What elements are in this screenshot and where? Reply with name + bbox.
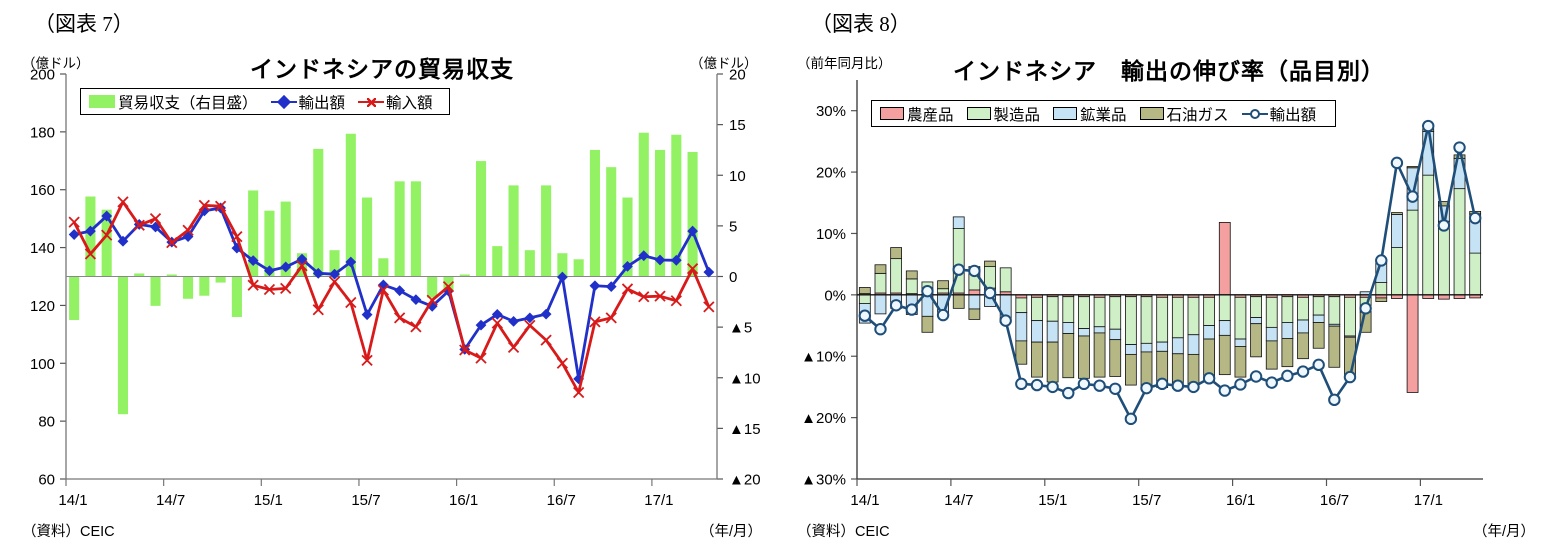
export-growth-bar-segment bbox=[1125, 354, 1136, 385]
figure-8-ytick: ▲30% bbox=[801, 472, 846, 489]
figure-7-y2tick: ▲20 bbox=[729, 472, 761, 489]
figure-7-source: （資料）CEIC bbox=[22, 520, 115, 541]
export-growth-bar-segment bbox=[1031, 297, 1042, 320]
export-growth-bar-segment bbox=[1047, 321, 1058, 342]
figure-7-ytick: 60 bbox=[38, 472, 55, 489]
total-exports-marker bbox=[860, 311, 870, 321]
export-growth-bar-segment bbox=[1266, 297, 1277, 327]
export-growth-bar-segment bbox=[1407, 210, 1418, 295]
total-exports-marker bbox=[907, 304, 917, 314]
export-growth-bar-segment bbox=[1219, 321, 1230, 336]
figure-7-xtick: 14/1 bbox=[58, 492, 87, 509]
export-growth-bar-segment bbox=[1282, 297, 1293, 323]
export-growth-bar-segment bbox=[1235, 297, 1246, 339]
imports-marker bbox=[622, 284, 632, 294]
trade-balance-bar bbox=[346, 134, 356, 277]
trade-balance-bar bbox=[150, 277, 160, 306]
figure-8-xtick: 15/1 bbox=[1038, 492, 1067, 509]
export-growth-bar-segment bbox=[1251, 324, 1262, 357]
figure-7-xtick: 16/1 bbox=[449, 492, 478, 509]
trade-balance-bar bbox=[492, 246, 502, 276]
export-growth-bar-segment bbox=[985, 261, 996, 267]
total-exports-marker bbox=[1470, 213, 1480, 223]
export-growth-bar-segment bbox=[891, 248, 902, 259]
export-growth-bar-segment bbox=[1407, 167, 1418, 168]
export-growth-bar-segment bbox=[1219, 222, 1230, 294]
export-growth-bar-segment bbox=[1251, 318, 1262, 324]
trade-balance-bar bbox=[427, 277, 437, 298]
total-exports-marker bbox=[922, 286, 932, 296]
export-growth-bar-segment bbox=[938, 281, 949, 289]
total-exports-marker bbox=[1000, 315, 1010, 325]
export-growth-bar-segment bbox=[985, 267, 996, 288]
trade-balance-bar bbox=[232, 277, 242, 318]
trade-balance-bar bbox=[313, 149, 323, 277]
export-growth-bar-segment bbox=[1188, 335, 1199, 355]
exports-marker bbox=[703, 267, 714, 278]
trade-balance-bar bbox=[509, 185, 519, 276]
export-growth-bar-segment bbox=[969, 290, 980, 295]
trade-balance-bar bbox=[476, 161, 486, 276]
figure-8-panel: （図表 8） （前年同月比） インドネシア 輸出の伸び率（品目別） 農産品 製造… bbox=[783, 0, 1567, 555]
export-growth-bar-segment bbox=[1298, 333, 1309, 359]
export-growth-bar-segment bbox=[1078, 297, 1089, 329]
export-growth-bar-segment bbox=[1047, 342, 1058, 382]
figure-8-xtick: 14/1 bbox=[850, 492, 879, 509]
imports-marker bbox=[476, 353, 486, 363]
figure-7-y2tick: 5 bbox=[729, 218, 737, 235]
total-exports-marker bbox=[1204, 373, 1214, 383]
export-growth-bar-segment bbox=[1141, 352, 1152, 386]
imports-marker bbox=[69, 217, 79, 227]
export-growth-bar-segment bbox=[1376, 283, 1387, 295]
export-growth-bar-segment bbox=[891, 259, 902, 293]
total-exports-marker bbox=[1376, 255, 1386, 265]
export-growth-bar-segment bbox=[1016, 341, 1027, 364]
figure-8-ytick: 20% bbox=[816, 165, 846, 182]
trade-balance-bar bbox=[574, 259, 584, 276]
total-exports-marker bbox=[1282, 371, 1292, 381]
figure-7-ytick: 180 bbox=[30, 124, 55, 141]
export-growth-bar-segment bbox=[1094, 333, 1105, 377]
trade-balance-bar bbox=[362, 198, 372, 277]
trade-balance-bar bbox=[541, 185, 551, 276]
export-growth-bar-segment bbox=[859, 295, 870, 304]
export-growth-bar-segment bbox=[953, 217, 964, 229]
figure-7-xtick: 17/1 bbox=[644, 492, 673, 509]
export-growth-bar-segment bbox=[1188, 297, 1199, 334]
export-growth-bar-segment bbox=[1063, 322, 1074, 333]
export-growth-bar-segment bbox=[1282, 338, 1293, 366]
export-growth-bar-segment bbox=[1016, 298, 1027, 313]
figure-8-xtick: 15/7 bbox=[1132, 492, 1161, 509]
export-growth-bar-segment bbox=[1219, 295, 1230, 321]
total-exports-marker bbox=[938, 310, 948, 320]
figure-7-y2tick: 15 bbox=[729, 117, 746, 134]
export-growth-bar-segment bbox=[1454, 189, 1465, 295]
export-growth-bar-segment bbox=[1407, 295, 1418, 393]
trade-balance-bar bbox=[69, 277, 79, 321]
figure-7-y2tick: ▲5 bbox=[729, 320, 752, 337]
figure-7-ytick: 80 bbox=[38, 414, 55, 431]
export-growth-bar-segment bbox=[906, 279, 917, 294]
export-growth-bar-segment bbox=[1204, 326, 1215, 340]
figure-8-ytick: 30% bbox=[816, 103, 846, 120]
figure-7-ytick: 200 bbox=[30, 67, 55, 84]
export-growth-bar-segment bbox=[1063, 297, 1074, 323]
trade-balance-bar bbox=[590, 150, 600, 277]
imports-marker bbox=[411, 322, 421, 332]
total-exports-marker bbox=[1360, 303, 1370, 313]
imports-marker bbox=[118, 197, 128, 207]
export-growth-bar-segment bbox=[1391, 248, 1402, 295]
export-growth-bar-segment bbox=[1266, 341, 1277, 369]
figure-8-ytick: 0% bbox=[824, 287, 846, 304]
export-growth-bar-segment bbox=[1219, 335, 1230, 374]
exports-marker bbox=[411, 294, 422, 305]
figure-7-y2tick: 10 bbox=[729, 168, 746, 185]
figure-7-y2tick: ▲10 bbox=[729, 370, 761, 387]
export-growth-bar-segment bbox=[1391, 213, 1402, 215]
export-growth-bar-segment bbox=[1266, 327, 1277, 341]
figure-7-ytick: 140 bbox=[30, 240, 55, 257]
total-exports-marker bbox=[1110, 384, 1120, 394]
export-growth-bar-segment bbox=[1376, 298, 1387, 302]
trade-balance-bar bbox=[525, 250, 535, 276]
total-exports-marker bbox=[1047, 382, 1057, 392]
exports-marker bbox=[378, 279, 389, 290]
page-root: （図表 7） （億ドル） （億ドル） インドネシアの貿易収支 貿易収支（右目盛）… bbox=[0, 0, 1567, 555]
total-exports-marker bbox=[1188, 382, 1198, 392]
figure-8-ytick: ▲20% bbox=[801, 410, 846, 427]
figure-7-xtick: 15/7 bbox=[351, 492, 380, 509]
figure-7-panel: （図表 7） （億ドル） （億ドル） インドネシアの貿易収支 貿易収支（右目盛）… bbox=[0, 0, 783, 555]
total-exports-marker bbox=[1439, 220, 1449, 230]
total-exports-marker bbox=[1423, 121, 1433, 131]
export-growth-bar-segment bbox=[1391, 214, 1402, 247]
export-growth-bar-segment bbox=[1110, 329, 1121, 339]
figure-7-y2tick: 20 bbox=[729, 67, 746, 84]
export-growth-bar-segment bbox=[1235, 346, 1246, 377]
export-growth-bar-segment bbox=[953, 295, 964, 309]
export-growth-bar-segment bbox=[922, 316, 933, 332]
total-exports-marker bbox=[969, 266, 979, 276]
trade-balance-bar bbox=[118, 277, 128, 415]
exports-marker bbox=[590, 280, 601, 291]
export-growth-bar-segment bbox=[969, 309, 980, 319]
total-exports-marker bbox=[1235, 379, 1245, 389]
figure-7-ytick: 160 bbox=[30, 182, 55, 199]
total-exports-marker bbox=[1079, 379, 1089, 389]
total-exports-marker bbox=[1454, 142, 1464, 152]
export-growth-bar-segment bbox=[1172, 297, 1183, 338]
figure-8-xtick: 16/7 bbox=[1320, 492, 1349, 509]
export-growth-bar-segment bbox=[1125, 297, 1136, 345]
trade-balance-bar bbox=[688, 152, 698, 277]
export-growth-bar-segment bbox=[1344, 297, 1355, 336]
export-growth-bar-segment bbox=[1251, 297, 1262, 318]
trade-balance-bar bbox=[606, 167, 616, 276]
export-growth-bar-segment bbox=[938, 289, 949, 293]
total-exports-marker bbox=[1313, 360, 1323, 370]
imports-marker bbox=[509, 342, 519, 352]
export-growth-bar-segment bbox=[1329, 297, 1340, 325]
total-exports-marker bbox=[875, 324, 885, 334]
export-growth-bar-segment bbox=[1470, 253, 1481, 295]
export-growth-bar-segment bbox=[1298, 320, 1309, 333]
figure-7-y2tick: ▲15 bbox=[729, 421, 761, 438]
trade-balance-bar bbox=[411, 181, 421, 276]
export-growth-bar-segment bbox=[1000, 268, 1011, 292]
trade-balance-bar bbox=[183, 277, 193, 299]
total-exports-marker bbox=[891, 300, 901, 310]
export-growth-bar-segment bbox=[1094, 297, 1105, 326]
exports-marker bbox=[541, 309, 552, 320]
export-growth-bar-segment bbox=[906, 271, 917, 279]
figure-8-xtick: 16/1 bbox=[1226, 492, 1255, 509]
export-growth-bar-segment bbox=[1282, 322, 1293, 338]
total-exports-marker bbox=[1220, 385, 1230, 395]
export-growth-bar-segment bbox=[1078, 329, 1089, 336]
total-exports-marker bbox=[1392, 158, 1402, 168]
figure-7-ytick: 120 bbox=[30, 298, 55, 315]
export-growth-bar-segment bbox=[875, 265, 886, 274]
exports-marker bbox=[508, 316, 519, 327]
figure-7-ytick: 100 bbox=[30, 356, 55, 373]
figure-8-source: （資料）CEIC bbox=[797, 520, 890, 541]
total-exports-marker bbox=[1094, 380, 1104, 390]
trade-balance-bar bbox=[85, 197, 95, 277]
export-growth-bar-segment bbox=[1423, 175, 1434, 295]
export-growth-bar-segment bbox=[1157, 297, 1168, 342]
export-growth-bar-segment bbox=[1235, 339, 1246, 346]
export-growth-bar-segment bbox=[1313, 297, 1324, 315]
export-growth-bar-segment bbox=[1141, 343, 1152, 352]
export-growth-bar-segment bbox=[1125, 345, 1136, 355]
export-growth-bar-segment bbox=[1094, 327, 1105, 333]
figure-7-plot: 6080100120140160180200▲20▲15▲10▲50510152… bbox=[0, 0, 783, 520]
figure-8-xtick: 14/7 bbox=[944, 492, 973, 509]
imports-marker bbox=[395, 313, 405, 323]
total-exports-marker bbox=[1173, 380, 1183, 390]
total-exports-marker bbox=[1329, 395, 1339, 405]
export-growth-bar-segment bbox=[859, 287, 870, 293]
total-exports-marker bbox=[1157, 379, 1167, 389]
total-exports-marker bbox=[1016, 379, 1026, 389]
figure-7-xtick: 14/7 bbox=[156, 492, 185, 509]
export-growth-bar-segment bbox=[1454, 155, 1465, 159]
total-exports-marker bbox=[1345, 372, 1355, 382]
export-growth-bar-segment bbox=[1016, 313, 1027, 341]
total-exports-marker bbox=[1032, 380, 1042, 390]
figure-8-ytick: 10% bbox=[816, 226, 846, 243]
export-growth-bar-segment bbox=[1078, 336, 1089, 378]
total-exports-marker bbox=[1407, 191, 1417, 201]
figure-8-x-axis-unit: （年/月） bbox=[1473, 520, 1535, 541]
imports-marker bbox=[557, 358, 567, 368]
figure-7-xtick: 15/1 bbox=[254, 492, 283, 509]
figure-7-y2tick: 0 bbox=[729, 269, 737, 286]
trade-balance-bar bbox=[378, 258, 388, 276]
export-growth-bar-segment bbox=[1047, 297, 1058, 322]
total-exports-marker bbox=[1141, 383, 1151, 393]
export-growth-bar-segment bbox=[1110, 297, 1121, 330]
total-exports-marker bbox=[1063, 388, 1073, 398]
trade-balance-bar bbox=[395, 181, 405, 276]
total-exports-marker bbox=[1251, 371, 1261, 381]
export-growth-bar-segment bbox=[1110, 340, 1121, 377]
exports-marker bbox=[362, 309, 373, 320]
total-exports-marker bbox=[1126, 414, 1136, 424]
total-exports-marker bbox=[1267, 377, 1277, 387]
export-growth-bar-segment bbox=[1313, 322, 1324, 348]
export-growth-bar-segment bbox=[1329, 326, 1340, 367]
export-growth-bar-segment bbox=[1031, 342, 1042, 377]
figure-8-xtick: 17/1 bbox=[1414, 492, 1443, 509]
export-growth-bar-segment bbox=[1031, 321, 1042, 342]
export-growth-bar-segment bbox=[1157, 342, 1168, 351]
total-exports-marker bbox=[954, 264, 964, 274]
export-growth-bar-segment bbox=[1438, 221, 1449, 295]
trade-balance-bar bbox=[216, 277, 226, 283]
figure-8-plot: ▲30%▲20%▲10%0%10%20%30%14/114/715/115/71… bbox=[783, 0, 1567, 520]
figure-7-x-axis-unit: （年/月） bbox=[700, 520, 762, 541]
export-growth-bar-segment bbox=[1063, 334, 1074, 378]
figure-8-ytick: ▲10% bbox=[801, 349, 846, 366]
export-growth-bar-segment bbox=[875, 273, 886, 293]
imports-marker bbox=[541, 335, 551, 345]
trade-balance-bar bbox=[199, 277, 209, 296]
export-growth-bar-segment bbox=[1141, 297, 1152, 344]
export-growth-bar-segment bbox=[1313, 315, 1324, 322]
export-growth-bar-segment bbox=[1298, 297, 1309, 320]
total-exports-marker bbox=[1298, 366, 1308, 376]
export-growth-bar-segment bbox=[969, 295, 980, 309]
export-growth-bar-segment bbox=[1204, 297, 1215, 325]
total-exports-marker bbox=[985, 288, 995, 298]
export-growth-bar-segment bbox=[875, 295, 886, 314]
figure-7-xtick: 16/7 bbox=[547, 492, 576, 509]
exports-marker bbox=[394, 285, 405, 296]
export-growth-bar-segment bbox=[1172, 338, 1183, 354]
